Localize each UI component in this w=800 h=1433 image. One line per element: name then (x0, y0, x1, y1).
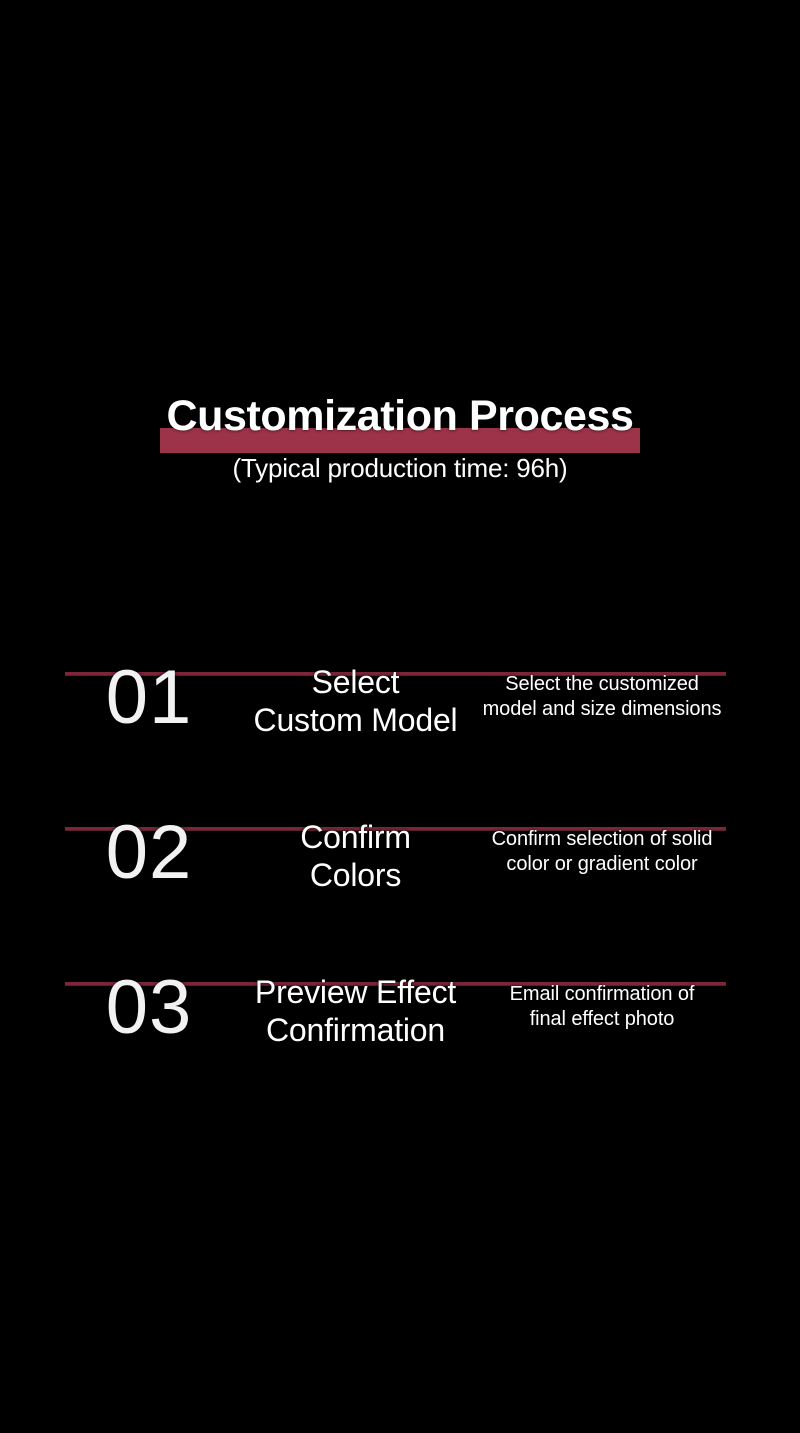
step-description-1: Select the customized model and size dim… (478, 672, 726, 741)
process-step-3: 03 Preview Effect Confirmation Email con… (0, 896, 800, 1051)
page-subtitle: (Typical production time: 96h) (0, 455, 800, 481)
step-content-3: 03 Preview Effect Confirmation Email con… (65, 896, 726, 1051)
step-content-1: 01 Select Custom Model Select the custom… (65, 586, 726, 741)
step-description-3-line-2: final effect photo (478, 1007, 726, 1033)
step-title-2: Confirm Colors (233, 819, 478, 896)
step-description-1-line-2: model and size dimensions (478, 697, 726, 723)
step-content-2: 02 Confirm Colors Confirm selection of s… (65, 741, 726, 896)
step-description-3-line-1: Email confirmation of (478, 982, 726, 1008)
step-title-3-line-2: Confirmation (233, 1012, 478, 1049)
step-description-2-line-1: Confirm selection of solid (478, 827, 726, 853)
step-title-2-line-1: Confirm (233, 819, 478, 856)
step-description-2: Confirm selection of solid color or grad… (478, 827, 726, 896)
step-title-1-line-2: Custom Model (233, 702, 478, 739)
step-title-1-line-1: Select (233, 664, 478, 701)
step-description-2-line-2: color or gradient color (478, 852, 726, 878)
process-step-2: 02 Confirm Colors Confirm selection of s… (0, 741, 800, 896)
step-number-3: 03 (65, 972, 233, 1051)
step-description-3: Email confirmation of final effect photo (478, 982, 726, 1051)
slide-header: Customization Process (Typical productio… (0, 392, 800, 481)
step-title-3: Preview Effect Confirmation (233, 974, 478, 1051)
customization-process-slide: { "theme": { "background": "#000000", "t… (0, 0, 800, 1433)
step-title-3-line-1: Preview Effect (233, 974, 478, 1011)
step-number-2: 02 (65, 817, 233, 896)
page-title-wrapper: Customization Process (160, 392, 639, 446)
process-step-1: 01 Select Custom Model Select the custom… (0, 586, 800, 741)
step-number-1: 01 (65, 662, 233, 741)
process-steps-list: 01 Select Custom Model Select the custom… (0, 586, 800, 1051)
step-title-2-line-2: Colors (233, 857, 478, 894)
step-description-1-line-1: Select the customized (478, 672, 726, 698)
page-title: Customization Process (166, 392, 633, 446)
step-title-1: Select Custom Model (233, 664, 478, 741)
